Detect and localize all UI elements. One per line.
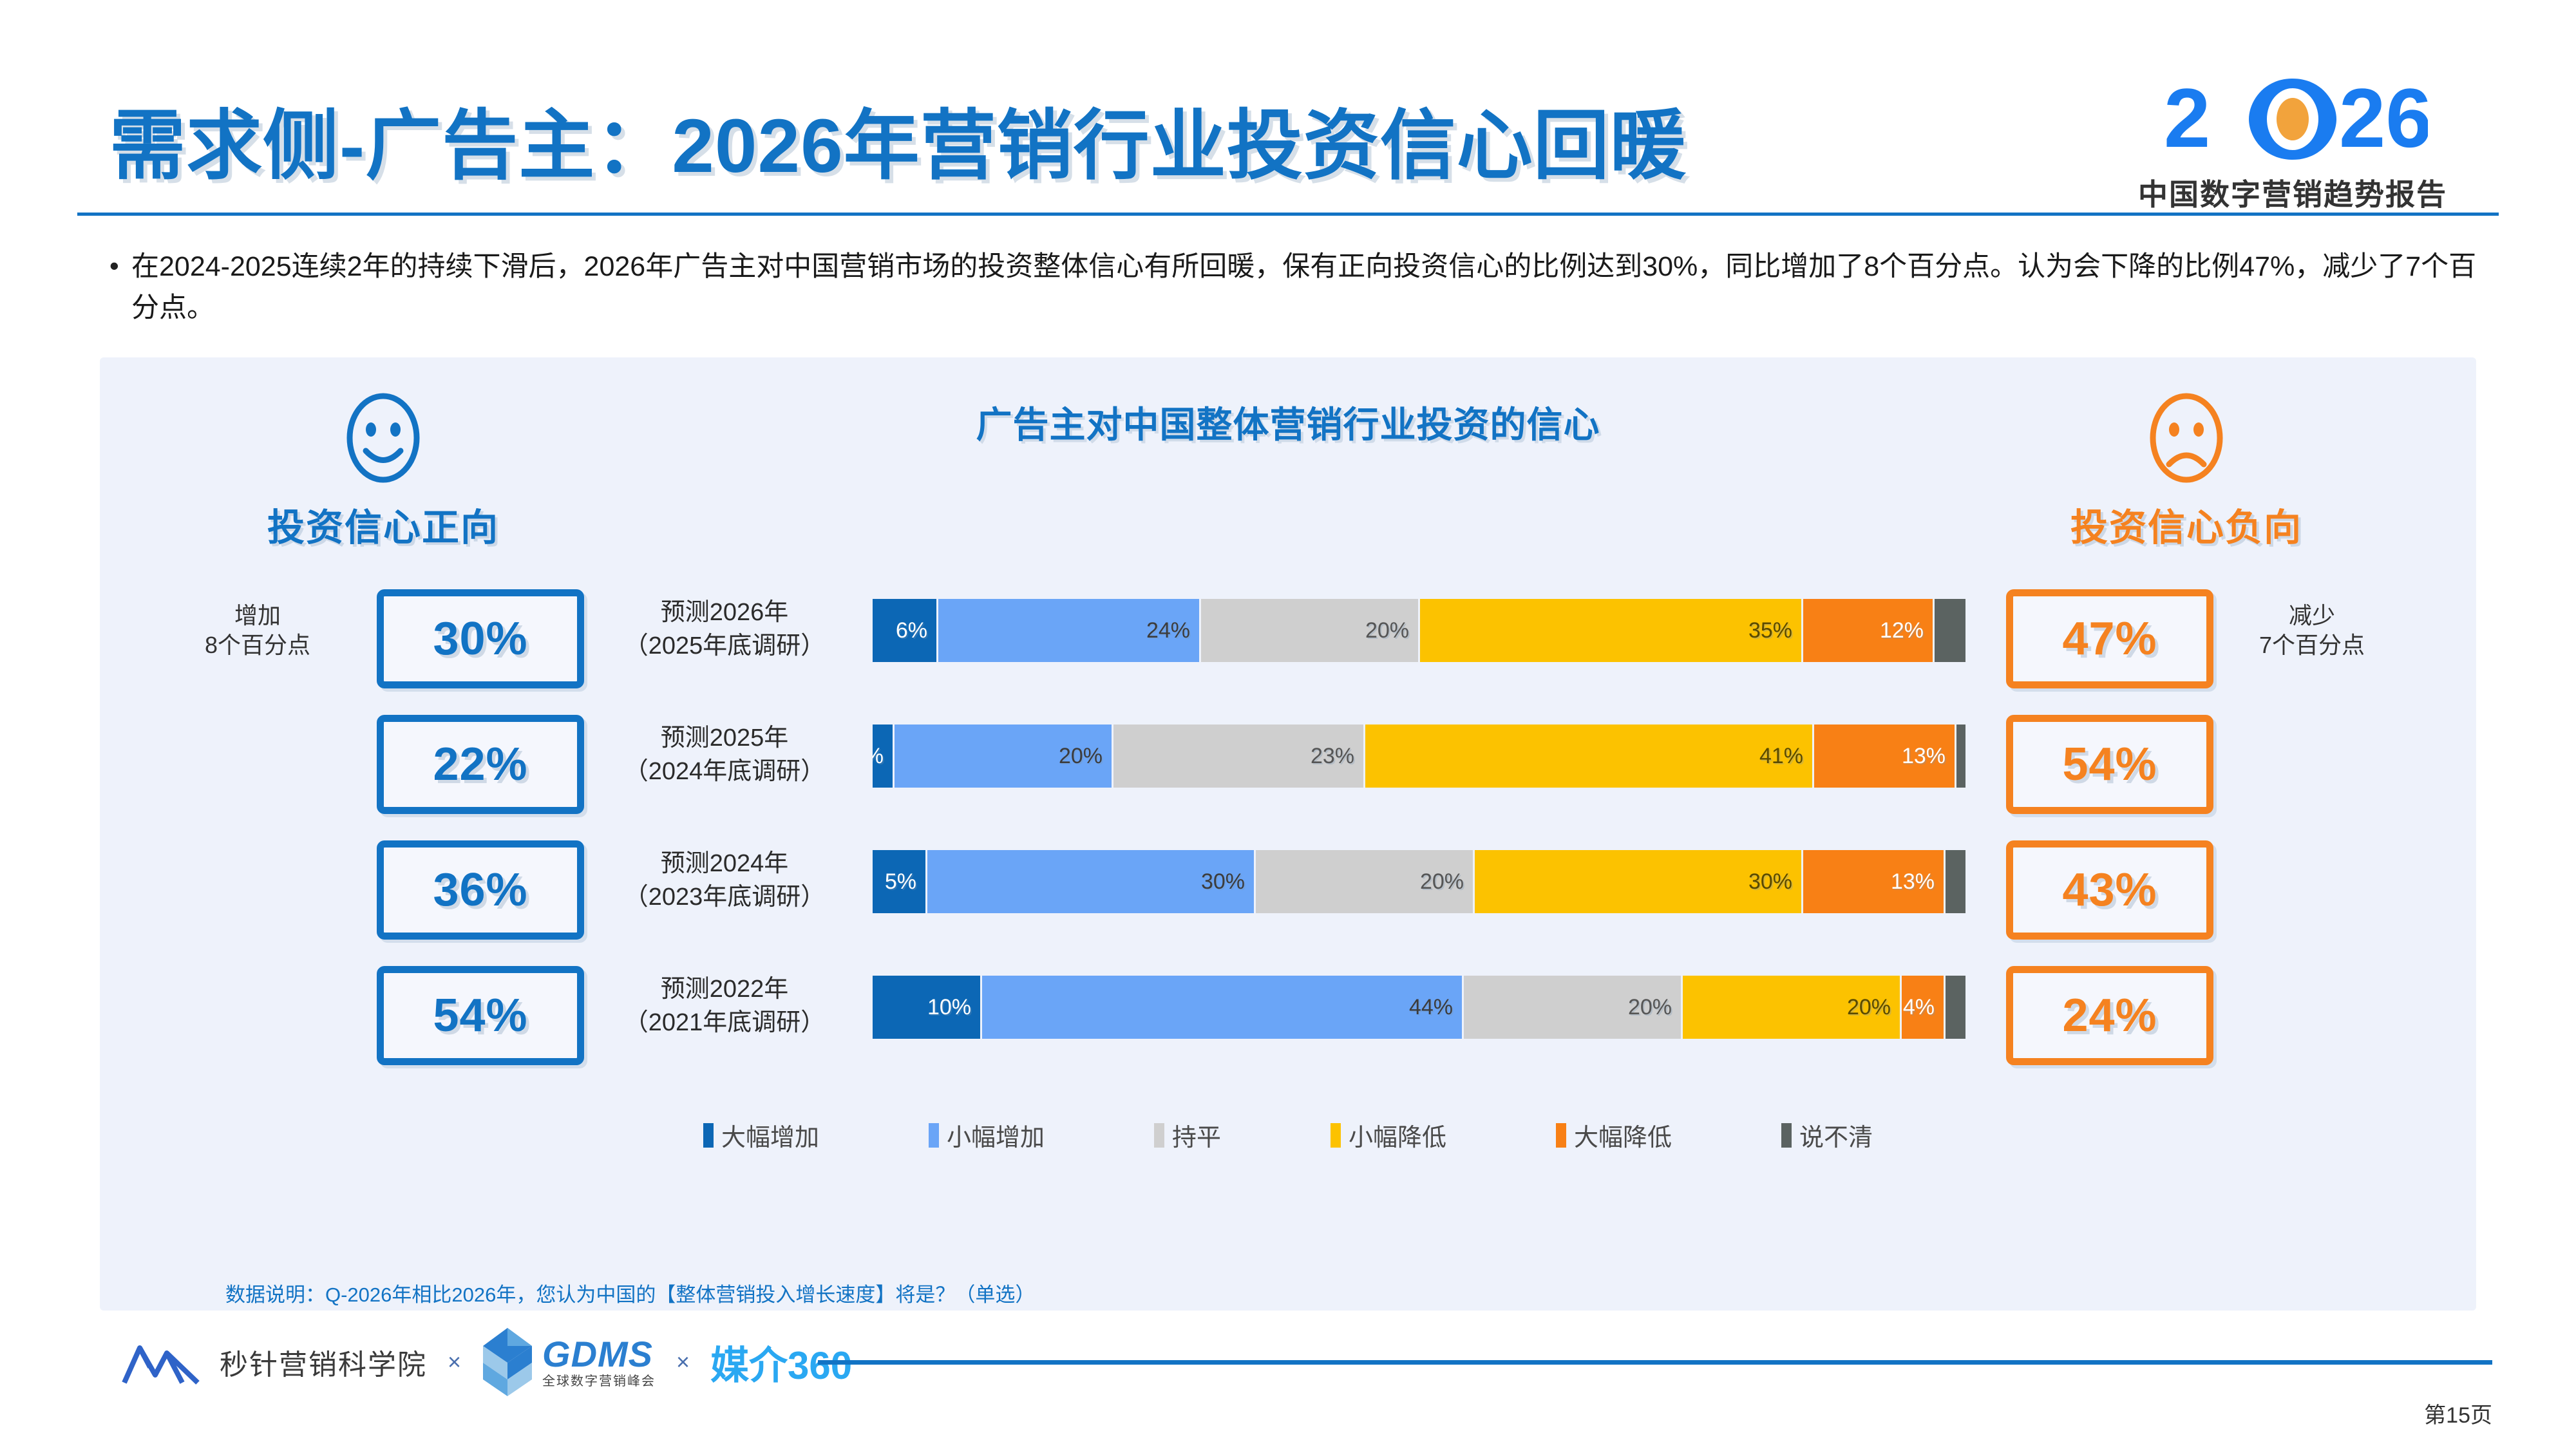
legend-swatch-icon: [1154, 1123, 1164, 1148]
svg-text:26: 26: [2339, 71, 2428, 165]
negative-total-box: 47%: [2006, 589, 2213, 688]
bar-segment-value: 44%: [1409, 995, 1453, 1020]
bar-segment[interactable]: 23%: [1113, 724, 1365, 788]
gdms-logo: GDMS 全球数字营销峰会: [482, 1327, 656, 1397]
logo-separator-1: ×: [444, 1349, 465, 1376]
report-brand: 2 26 中国数字营销趋势报告: [2087, 71, 2499, 214]
positive-delta-note: 增加8个百分点: [164, 601, 351, 660]
chart-row: 36%预测2024年（2023年底调研）5%30%20%30%13%43%: [100, 834, 2476, 960]
bar-segment[interactable]: 44%: [982, 976, 1464, 1039]
stacked-bar: 10%44%20%20%4%: [873, 976, 1967, 1039]
data-source-note: 数据说明：Q-2026年相比2026年，您认为中国的【整体营销投入增长速度】将是…: [225, 1278, 1035, 1307]
legend-label: 大幅增加: [721, 1117, 819, 1153]
positive-total-box: 30%: [377, 589, 584, 688]
negative-sentiment-block: 投资信心负向: [1987, 390, 2386, 551]
row-category-line2: （2021年底调研）: [589, 1006, 860, 1039]
bar-segment[interactable]: 20%: [1464, 976, 1683, 1039]
gdms-logo-subtext: 全球数字营销峰会: [542, 1375, 656, 1388]
bullet-text: 在2024-2025连续2年的持续下滑后，2026年广告主对中国营销市场的投资整…: [131, 246, 2492, 328]
negative-delta-note: 减少7个百分点: [2219, 601, 2405, 660]
bar-segment[interactable]: 30%: [1475, 850, 1803, 913]
legend-swatch-icon: [1331, 1123, 1341, 1148]
positive-total-value: 30%: [433, 612, 527, 665]
bar-segment-value: 41%: [1759, 744, 1803, 769]
smiley-face-icon: [341, 390, 425, 486]
negative-sentiment-label: 投资信心负向: [1987, 497, 2386, 551]
sad-face-icon: [2145, 390, 2228, 486]
chart-row: 增加8个百分点减少7个百分点30%预测2026年（2025年底调研）6%24%2…: [100, 583, 2476, 708]
negative-total-value: 47%: [2062, 612, 2157, 665]
bar-segment[interactable]: 20%: [1256, 850, 1475, 913]
bar-segment[interactable]: 30%: [927, 850, 1256, 913]
bar-segment-value: 24%: [1146, 618, 1190, 643]
row-category-line1: 预测2024年: [589, 847, 860, 880]
bar-segment-value: 30%: [1748, 869, 1792, 895]
bar-segment-value: 6%: [896, 618, 927, 643]
bar-segment-value: 10%: [927, 995, 971, 1020]
positive-total-box: 22%: [377, 715, 584, 814]
legend-swatch-icon: [703, 1123, 714, 1148]
row-category-label: 预测2025年（2024年底调研）: [589, 721, 860, 788]
legend-label: 小幅降低: [1349, 1117, 1446, 1153]
stacked-bar: 5%30%20%30%13%: [873, 850, 1967, 913]
positive-total-value: 36%: [433, 864, 527, 916]
chart-panel: 广告主对中国整体营销行业投资的信心 投资信心正向 投资信心负向 增加8个百分点减…: [100, 357, 2476, 1311]
positive-delta-line1: 增加: [164, 601, 351, 630]
positive-total-box: 36%: [377, 840, 584, 940]
row-category-label: 预测2026年（2025年底调研）: [589, 596, 860, 663]
positive-sentiment-block: 投资信心正向: [184, 390, 583, 551]
negative-total-value: 24%: [2062, 989, 2157, 1042]
legend-label: 持平: [1172, 1117, 1221, 1153]
legend-label: 大幅降低: [1574, 1117, 1672, 1153]
legend-item[interactable]: 小幅降低: [1331, 1117, 1446, 1153]
negative-delta-line2: 7个百分点: [2219, 630, 2405, 660]
legend-item[interactable]: 小幅增加: [929, 1117, 1045, 1153]
row-category-line1: 预测2022年: [589, 972, 860, 1006]
row-category-label: 预测2022年（2021年底调研）: [589, 972, 860, 1039]
gdms-diamond-icon: [482, 1327, 533, 1397]
partner-logos: 秒针营销科学院 × GDMS 全球数字营销峰会 × 媒介360: [119, 1327, 852, 1397]
negative-total-value: 43%: [2062, 864, 2157, 916]
miaozhen-logo-text: 秒针营销科学院: [220, 1341, 427, 1383]
bar-segment[interactable]: [1946, 976, 1967, 1039]
bar-segment-value: 20%: [1420, 869, 1464, 895]
negative-total-box: 24%: [2006, 966, 2213, 1065]
row-category-line2: （2025年底调研）: [589, 629, 860, 663]
negative-total-value: 54%: [2062, 738, 2157, 791]
slide-header: 需求侧-广告主：2026年营销行业投资信心回暖 2 26 中国数字营销趋势报告: [0, 0, 2576, 219]
slide-footer: 秒针营销科学院 × GDMS 全球数字营销峰会 × 媒介360 第15页: [0, 1327, 2576, 1449]
row-category-label: 预测2024年（2023年底调研）: [589, 847, 860, 914]
bar-segment-value: 35%: [1748, 618, 1792, 643]
bar-segment-value: 20%: [1365, 618, 1409, 643]
bar-segment-value: 4%: [1903, 995, 1935, 1020]
legend-label: 说不清: [1799, 1117, 1873, 1153]
legend-item[interactable]: 持平: [1154, 1117, 1221, 1153]
chart-legend: 大幅增加小幅增加持平小幅降低大幅降低说不清: [100, 1117, 2476, 1153]
bar-segment-value: 5%: [885, 869, 916, 895]
bar-segment[interactable]: [1956, 724, 1967, 788]
bullet-marker: •: [109, 246, 131, 286]
bar-segment-value: 20%: [1847, 995, 1891, 1020]
bar-segment[interactable]: 6%: [873, 599, 938, 662]
row-category-line2: （2024年底调研）: [589, 755, 860, 788]
bar-segment[interactable]: 20%: [1201, 599, 1420, 662]
legend-label: 小幅增加: [947, 1117, 1045, 1153]
page-title: 需求侧-广告主：2026年营销行业投资信心回暖: [109, 84, 1687, 194]
bar-segment[interactable]: 20%: [895, 724, 1113, 788]
bar-segment-value: 30%: [1201, 869, 1245, 895]
bar-segment-value: 20%: [1059, 744, 1103, 769]
negative-total-box: 54%: [2006, 715, 2213, 814]
negative-delta-line1: 减少: [2219, 601, 2405, 630]
page-number: 第15页: [2424, 1397, 2492, 1429]
bar-segment-value: 13%: [1891, 869, 1935, 895]
chart-rows: 增加8个百分点减少7个百分点30%预测2026年（2025年底调研）6%24%2…: [100, 583, 2476, 1085]
summary-bullet: • 在2024-2025连续2年的持续下滑后，2026年广告主对中国营销市场的投…: [109, 246, 2492, 328]
bar-segment[interactable]: 20%: [1683, 976, 1902, 1039]
bar-segment[interactable]: 12%: [1803, 599, 1935, 662]
legend-swatch-icon: [929, 1123, 939, 1148]
report-subtitle: 中国数字营销趋势报告: [2087, 171, 2499, 214]
bar-segment-value: 12%: [1880, 618, 1924, 643]
stacked-bar: 6%24%20%35%12%: [873, 599, 1967, 662]
bar-segment[interactable]: 13%: [1814, 724, 1956, 788]
chart-row: 54%预测2022年（2021年底调研）10%44%20%20%4%24%: [100, 960, 2476, 1085]
bar-segment[interactable]: [1935, 599, 1967, 662]
legend-item[interactable]: 大幅增加: [703, 1117, 819, 1153]
miaozhen-logo-icon: [119, 1336, 203, 1388]
negative-total-box: 43%: [2006, 840, 2213, 940]
bar-segment[interactable]: 24%: [938, 599, 1201, 662]
chart-row: 22%预测2025年（2024年底调研）2%20%23%41%13%54%: [100, 708, 2476, 834]
bar-segment[interactable]: 10%: [873, 976, 982, 1039]
stacked-bar: 2%20%23%41%13%: [873, 724, 1967, 788]
bar-segment-value: 20%: [1628, 995, 1672, 1020]
bar-segment-value: 2%: [873, 744, 884, 769]
gdms-logo-text: GDMS: [542, 1336, 656, 1372]
bar-segment-value: 23%: [1311, 744, 1354, 769]
positive-total-value: 54%: [433, 989, 527, 1042]
bar-segment[interactable]: [1946, 850, 1967, 913]
legend-item[interactable]: 大幅降低: [1556, 1117, 1672, 1153]
svg-text:2: 2: [2164, 71, 2210, 165]
row-category-line1: 预测2026年: [589, 596, 860, 629]
row-category-line2: （2023年底调研）: [589, 880, 860, 914]
positive-total-value: 22%: [433, 738, 527, 791]
bar-segment[interactable]: 5%: [873, 850, 927, 913]
positive-sentiment-label: 投资信心正向: [184, 497, 583, 551]
row-category-line1: 预测2025年: [589, 721, 860, 755]
legend-item[interactable]: 说不清: [1781, 1117, 1873, 1153]
logo-separator-2: ×: [672, 1349, 694, 1376]
logo-2026-icon: 2 26: [2157, 71, 2428, 167]
footer-divider: [818, 1360, 2492, 1365]
bar-segment[interactable]: 35%: [1420, 599, 1803, 662]
positive-total-box: 54%: [377, 966, 584, 1065]
legend-swatch-icon: [1781, 1123, 1792, 1148]
bar-segment[interactable]: 4%: [1902, 976, 1946, 1039]
bar-segment[interactable]: 13%: [1803, 850, 1946, 913]
bar-segment[interactable]: 41%: [1365, 724, 1814, 788]
legend-swatch-icon: [1556, 1123, 1566, 1148]
positive-delta-line2: 8个百分点: [164, 630, 351, 660]
bar-segment[interactable]: 2%: [873, 724, 895, 788]
bar-segment-value: 13%: [1902, 744, 1946, 769]
